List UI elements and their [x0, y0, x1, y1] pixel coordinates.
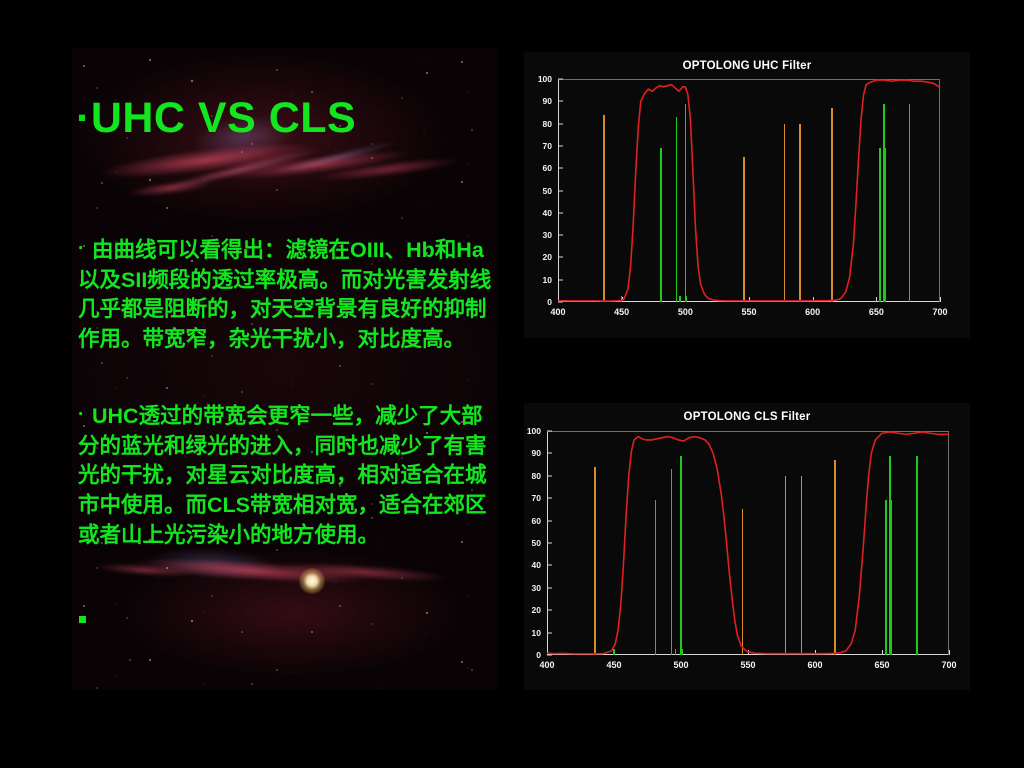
chart-cls-title: OPTOLONG CLS Filter	[524, 411, 970, 423]
transmission-curve	[547, 431, 949, 655]
bullet-icon-2: ·	[78, 402, 92, 428]
paragraph-1-text: 由曲线可以看得出：滤镜在OIII、Hb和Ha以及SII频段的透过率极高。而对光害…	[78, 238, 491, 351]
bullet-icon-1: ·	[78, 236, 92, 262]
bullet-paragraph-2: ·UHC透过的带宽会更窄一些，减少了大部分的蓝光和绿光的进入，同时也减少了有害光…	[78, 402, 496, 550]
chart-cls-plot-area: 0102030405060708090100400450500550600650…	[547, 431, 949, 655]
x-axis-tick-label: 600	[807, 655, 822, 670]
x-axis-tick-label: 700	[941, 655, 956, 670]
y-axis-tick-label: 10	[543, 275, 558, 285]
y-axis-tick-label: 60	[532, 516, 547, 526]
y-axis-tick-label: 100	[538, 74, 558, 84]
x-axis-tick-label: 450	[614, 302, 629, 317]
y-axis-tick-label: 100	[527, 426, 547, 436]
x-axis-tick-label: 650	[874, 655, 889, 670]
y-axis-tick-label: 80	[543, 119, 558, 129]
x-axis-tick-label: 550	[741, 302, 756, 317]
chart-uhc-filter: OPTOLONG UHC Filter 01020304050607080901…	[524, 52, 970, 338]
curve-path	[547, 432, 949, 654]
x-axis-tick-label: 450	[606, 655, 621, 670]
y-axis-tick-label: 30	[532, 583, 547, 593]
transmission-curve	[558, 79, 940, 302]
y-axis-tick-label: 80	[532, 471, 547, 481]
presentation-slide: ·UHC VS CLS ·由曲线可以看得出：滤镜在OIII、Hb和Ha以及SII…	[0, 0, 1024, 768]
x-axis-tick-label: 600	[805, 302, 820, 317]
x-axis-tick-label: 650	[869, 302, 884, 317]
paragraph-2-text: UHC透过的带宽会更窄一些，减少了大部分的蓝光和绿光的进入，同时也减少了有害光的…	[78, 404, 487, 547]
x-axis-tick-mark	[949, 650, 950, 655]
y-axis-tick-label: 60	[543, 163, 558, 173]
y-axis-tick-label: 70	[543, 141, 558, 151]
bullet-paragraph-1: ·由曲线可以看得出：滤镜在OIII、Hb和Ha以及SII频段的透过率极高。而对光…	[78, 236, 496, 355]
x-axis-tick-label: 500	[673, 655, 688, 670]
x-axis-tick-mark	[940, 297, 941, 302]
x-axis-tick-label: 700	[932, 302, 947, 317]
y-axis-tick-label: 70	[532, 493, 547, 503]
y-axis-tick-label: 50	[543, 186, 558, 196]
title-bullet-icon: ·	[76, 94, 91, 142]
y-axis-tick-label: 40	[543, 208, 558, 218]
x-axis-tick-label: 400	[550, 302, 565, 317]
y-axis-tick-label: 10	[532, 628, 547, 638]
x-axis-tick-label: 500	[678, 302, 693, 317]
y-axis-tick-label: 40	[532, 560, 547, 570]
curve-path	[558, 80, 940, 301]
y-axis-tick-label: 20	[543, 252, 558, 262]
bullet-icon-3	[79, 616, 86, 623]
y-axis-tick-label: 30	[543, 230, 558, 240]
x-axis-tick-label: 550	[740, 655, 755, 670]
x-axis-tick-label: 400	[539, 655, 554, 670]
y-axis-tick-label: 90	[543, 96, 558, 106]
y-axis-tick-label: 50	[532, 538, 547, 548]
page-title: ·UHC VS CLS	[76, 96, 496, 141]
chart-cls-filter: OPTOLONG CLS Filter 01020304050607080901…	[524, 403, 970, 690]
bright-star	[299, 568, 325, 594]
y-axis-tick-label: 90	[532, 448, 547, 458]
veil-nebula-photo	[72, 48, 497, 690]
y-axis-tick-label: 20	[532, 605, 547, 615]
title-text: UHC VS CLS	[91, 94, 356, 142]
chart-uhc-plot-area: 0102030405060708090100400450500550600650…	[558, 79, 940, 302]
chart-uhc-title: OPTOLONG UHC Filter	[524, 60, 970, 72]
